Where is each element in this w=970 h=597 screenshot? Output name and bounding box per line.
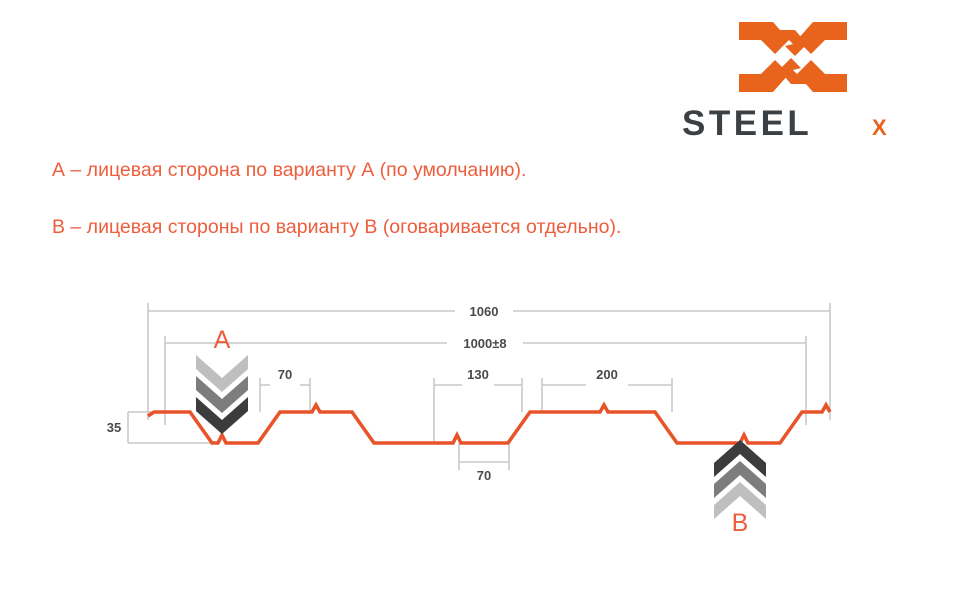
dimension-label-35: 35 [107, 420, 121, 435]
dimension-label-1000: 1000±8 [463, 336, 506, 351]
dimension-rib-130: 130 [434, 367, 522, 443]
dimension-label-200: 200 [596, 367, 618, 382]
profile-cross-section-drawing: 1060 1000±8 70 130 200 70 [0, 0, 970, 597]
marker-b-group: В [714, 440, 766, 537]
dimension-bottom-flat-70: 70 [459, 443, 509, 483]
dimension-top-flat-70: 70 [260, 367, 310, 412]
dimension-overall-1060: 1060 [148, 303, 830, 420]
marker-b-chevrons [714, 440, 766, 519]
profile-outline [148, 405, 830, 443]
marker-a-label: А [214, 326, 231, 354]
dimension-rib-200: 200 [542, 367, 672, 412]
dimension-label-1060: 1060 [470, 304, 499, 319]
dimension-label-top-70: 70 [278, 367, 292, 382]
dimension-height-35: 35 [107, 412, 215, 443]
dimension-label-bottom-70: 70 [477, 468, 491, 483]
marker-b-label: В [732, 509, 749, 537]
marker-a-chevrons [196, 355, 248, 434]
dimension-label-130: 130 [467, 367, 489, 382]
